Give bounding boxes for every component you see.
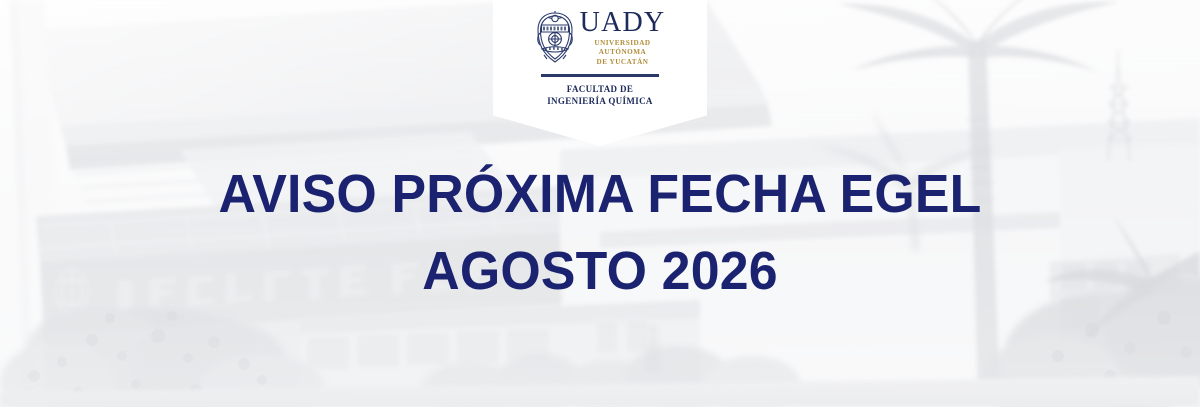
faculty-line-1: FACULTAD DE: [567, 84, 633, 94]
uady-sub-line-3: DE YUCATÁN: [597, 58, 649, 66]
uady-logo-panel: UADY UNIVERSIDAD AUTÓNOMA DE YUCATÁN FAC…: [493, 0, 707, 146]
uady-logo-inner: UADY UNIVERSIDAD AUTÓNOMA DE YUCATÁN FAC…: [493, 0, 707, 118]
faculty-name: FACULTAD DE INGENIERÍA QUÍMICA: [547, 83, 653, 108]
uady-sub-line-2: AUTÓNOMA: [599, 48, 647, 56]
uady-wordmark-subtitle: UNIVERSIDAD AUTÓNOMA DE YUCATÁN: [594, 39, 650, 68]
uady-sub-line-1: UNIVERSIDAD: [594, 39, 650, 47]
egel-announcement-banner: UADY UNIVERSIDAD AUTÓNOMA DE YUCATÁN FAC…: [0, 0, 1200, 407]
logo-divider: [541, 74, 659, 77]
uady-wordmark-text: UADY: [580, 9, 666, 37]
uady-logo-row: UADY UNIVERSIDAD AUTÓNOMA DE YUCATÁN: [535, 9, 666, 67]
faculty-line-2: INGENIERÍA QUÍMICA: [547, 96, 653, 106]
uady-crest-icon: [535, 11, 575, 65]
uady-wordmark: UADY UNIVERSIDAD AUTÓNOMA DE YUCATÁN: [580, 9, 666, 68]
